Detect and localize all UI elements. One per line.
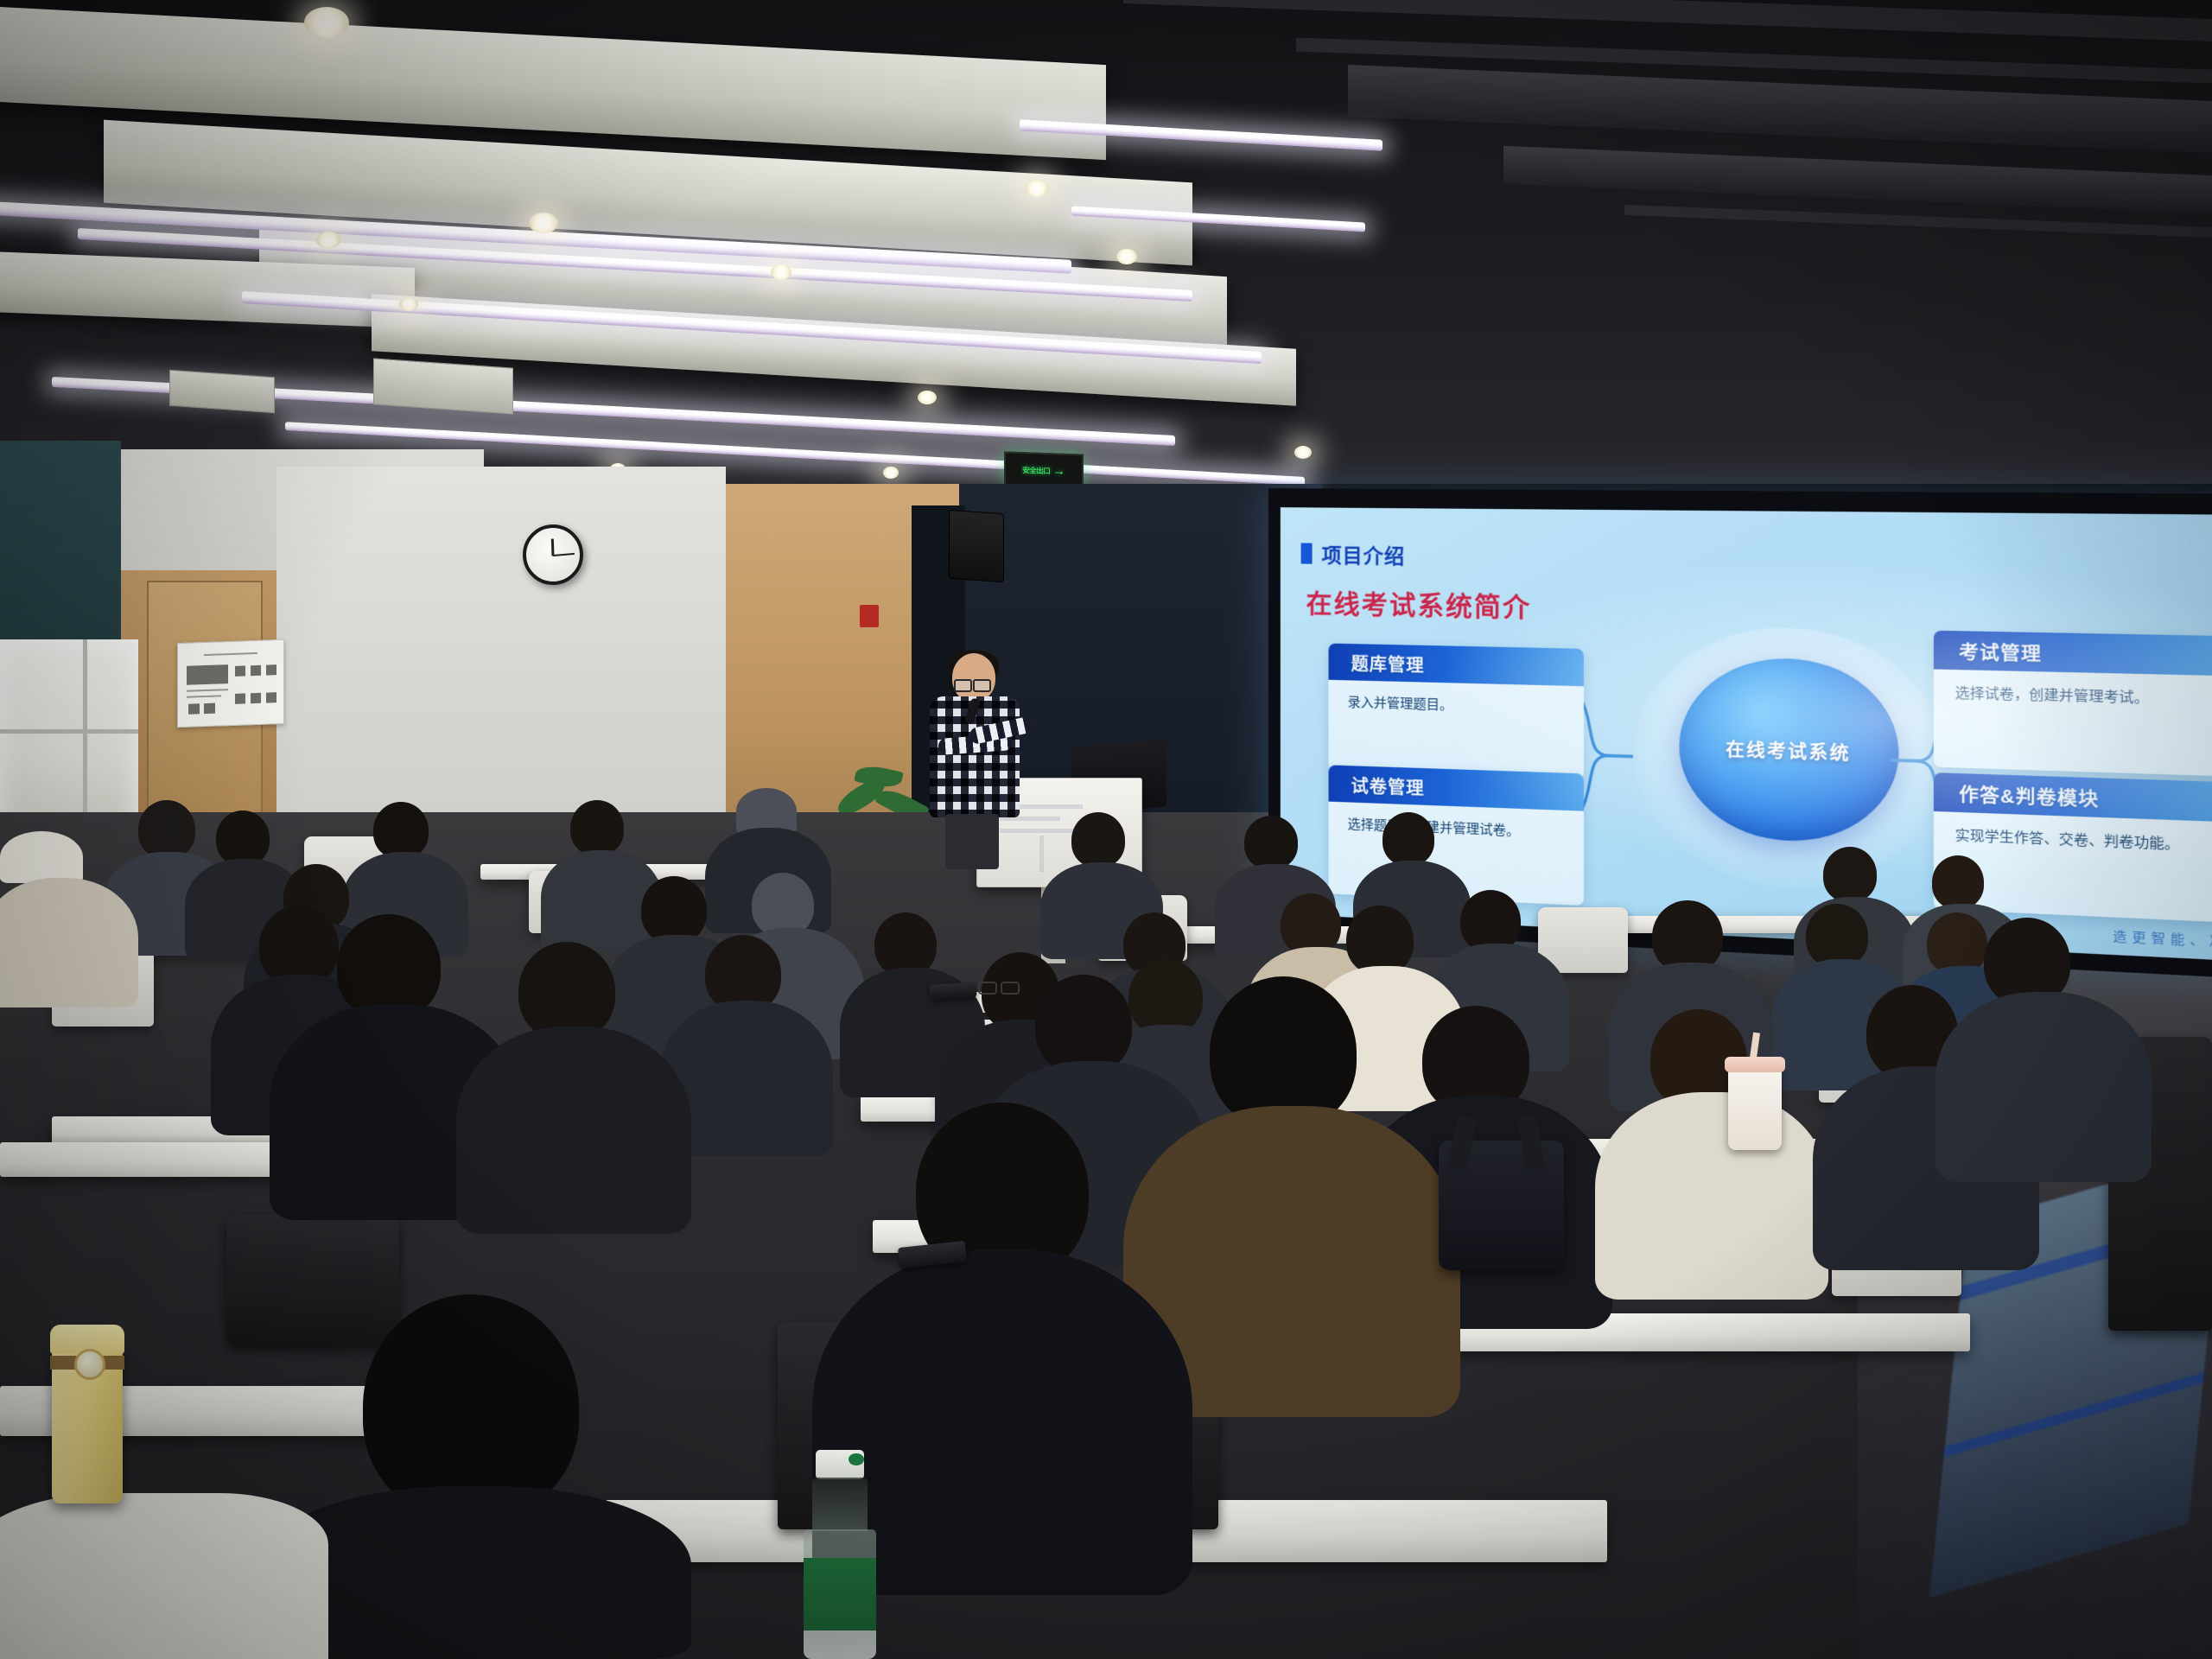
presenter-legs	[945, 814, 999, 869]
downlight	[1294, 446, 1312, 459]
audience-body	[456, 1027, 691, 1234]
bottle-cap-dot	[849, 1453, 864, 1465]
exit-arrow-icon: →	[1052, 464, 1065, 478]
slide-tagline: 造更智能、决策更智	[2113, 926, 2212, 953]
audience-head	[641, 876, 707, 944]
lecture-hall-photo: 安全出口 →	[0, 0, 2212, 1659]
thermos-button[interactable]	[74, 1349, 105, 1380]
kicker-bar-icon	[1301, 543, 1313, 563]
downlight	[304, 7, 349, 38]
downlight	[1116, 249, 1137, 264]
audience-head	[1346, 906, 1414, 975]
downlight	[771, 264, 791, 280]
yellow-thermos-bottle[interactable]	[52, 1344, 123, 1503]
lens-icon	[1001, 982, 1020, 995]
audience-head	[1071, 812, 1125, 868]
desk-row	[0, 1142, 311, 1177]
downlight	[399, 297, 418, 311]
audience-body-foreground	[0, 1493, 328, 1659]
slide-card-question-bank: 题库管理 录入并管理题目。	[1329, 643, 1584, 780]
drink-cup[interactable]	[1728, 1067, 1782, 1150]
ceiling: 安全出口 →	[0, 0, 2212, 484]
downlight	[918, 391, 937, 404]
audience-head	[216, 810, 270, 866]
audience-head	[1806, 904, 1868, 968]
white-wall	[276, 467, 726, 829]
smartphone[interactable]	[929, 982, 976, 1001]
card-body: 选择试卷，创建并管理考试。	[1934, 670, 2212, 777]
card-heading: 作答&判卷模块	[1959, 779, 2099, 811]
evacuation-notice-poster	[177, 639, 284, 728]
eyeglasses	[978, 982, 1020, 992]
card-heading: 考试管理	[1959, 637, 2042, 665]
audience-body	[1935, 992, 2152, 1182]
wall-clock	[523, 524, 583, 585]
audience-head	[1823, 847, 1877, 902]
audience-head	[1382, 812, 1434, 866]
backpack[interactable]	[1439, 1141, 1564, 1270]
audience-head	[1932, 855, 1984, 909]
slide-title: 在线考试系统简介	[1306, 582, 1532, 625]
audience-body	[0, 878, 138, 1007]
air-vent	[169, 370, 275, 414]
audience-head	[363, 1294, 579, 1519]
card-heading: 题库管理	[1351, 650, 1425, 677]
audience-head	[518, 942, 615, 1040]
audience-head	[570, 800, 624, 855]
presenter-head	[952, 653, 995, 702]
audience-head	[1128, 959, 1203, 1035]
card-header: 题库管理	[1329, 643, 1584, 686]
audience-head-cap	[0, 831, 83, 883]
bottle-cap	[816, 1450, 864, 1479]
presenter-glasses-icon	[954, 679, 972, 692]
lens-icon	[978, 982, 997, 995]
downlight	[1025, 180, 1049, 197]
slide-kicker: 项目介绍	[1322, 539, 1406, 570]
audience-head	[752, 873, 814, 937]
presenter-glasses-icon	[973, 679, 991, 692]
presenter	[923, 653, 1025, 869]
window	[0, 639, 138, 838]
audience-head	[138, 800, 195, 859]
exit-sign-text: 安全出口	[1022, 464, 1050, 476]
water-bottle[interactable]: 怡宝 C'ESTBON	[797, 1450, 883, 1659]
slide-card-exam-management: 考试管理 选择试卷，创建并管理考试。	[1934, 631, 2212, 777]
audience-head	[1035, 975, 1132, 1075]
cup-lid	[1725, 1057, 1785, 1072]
ceiling-speaker	[949, 510, 1004, 582]
downlight	[883, 467, 899, 479]
audience-head	[874, 912, 937, 976]
card-heading: 试卷管理	[1351, 772, 1425, 799]
air-vent	[373, 358, 513, 414]
audience-head	[1244, 816, 1298, 869]
downlight	[316, 232, 340, 249]
fire-alarm-icon	[860, 605, 879, 627]
audience-body	[1595, 1092, 1828, 1300]
card-header: 考试管理	[1934, 631, 2212, 676]
audience-head	[373, 802, 429, 859]
slide-kicker-row: 项目介绍	[1301, 538, 1406, 569]
downlight	[529, 213, 558, 233]
center-circle-label: 在线考试系统	[1679, 734, 1898, 766]
bottle-body: 怡宝 C'ESTBON	[804, 1529, 876, 1659]
chair[interactable]	[226, 1215, 399, 1344]
bottle-neck	[812, 1478, 868, 1531]
